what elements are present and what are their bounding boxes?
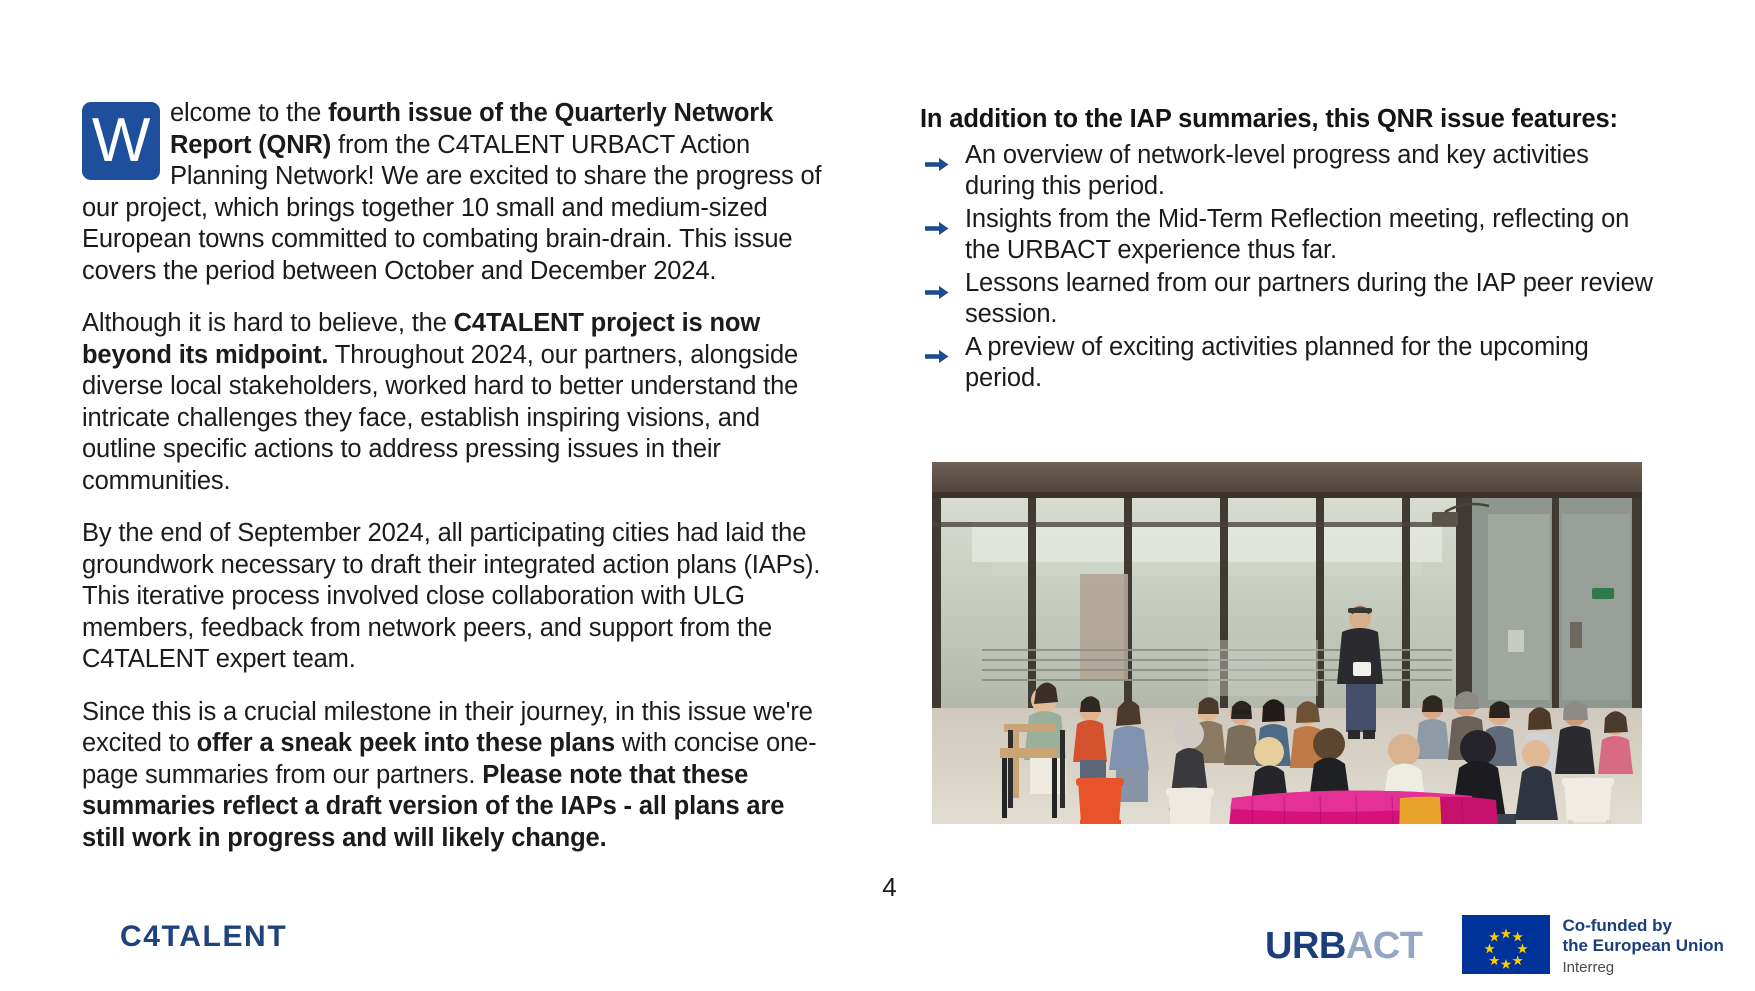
features-list: An overview of network-level progress an… <box>920 140 1665 395</box>
eu-funding-line-3: Interreg <box>1562 959 1724 977</box>
document-page: Welcome to the fourth issue of the Quart… <box>0 0 1755 991</box>
list-item: An overview of network-level progress an… <box>920 140 1665 203</box>
page-number-value: 4 <box>882 872 896 902</box>
arrow-right-icon <box>925 277 949 292</box>
list-item-label: An overview of network-level progress an… <box>965 141 1589 201</box>
list-item-label: Insights from the Mid-Term Reflection me… <box>965 205 1629 265</box>
urbact-logo-urb: URB <box>1265 925 1346 967</box>
arrow-right-icon <box>925 213 949 228</box>
urbact-logo: URBACT <box>1265 927 1422 965</box>
page-number: 4 <box>0 872 1755 903</box>
list-item: Lessons learned from our partners during… <box>920 268 1665 331</box>
eu-funding-text: Co-funded by the European Union Interreg <box>1562 915 1724 977</box>
eu-funding-line-1: Co-funded by <box>1562 916 1724 936</box>
eu-funding-logo: Co-funded by the European Union Interreg <box>1462 915 1724 977</box>
c4talent-logo-text: C4TALENT <box>120 920 287 953</box>
sneak-peek-paragraph: Since this is a crucial milestone in the… <box>82 697 822 855</box>
eu-flag-icon <box>1462 915 1550 974</box>
workshop-photo <box>932 462 1642 824</box>
arrow-right-icon <box>925 341 949 356</box>
eu-funding-line-2: the European Union <box>1562 936 1724 956</box>
sneak-bold-1: offer a sneak peek into these plans <box>197 729 615 757</box>
urbact-logo-act: ACT <box>1346 925 1423 967</box>
groundwork-text: By the end of September 2024, all partic… <box>82 519 820 673</box>
list-item: A preview of exciting activities planned… <box>920 332 1665 395</box>
list-item-label: A preview of exciting activities planned… <box>965 333 1589 393</box>
midpoint-paragraph: Although it is hard to believe, the C4TA… <box>82 308 822 497</box>
c4talent-logo: C4TALENT <box>120 920 287 954</box>
arrow-right-icon <box>925 149 949 164</box>
groundwork-paragraph: By the end of September 2024, all partic… <box>82 518 822 676</box>
footer-logos: URBACT <box>1265 915 1724 977</box>
list-item-label: Lessons learned from our partners during… <box>965 269 1653 329</box>
features-heading: In addition to the IAP summaries, this Q… <box>920 104 1665 136</box>
intro-paragraph: Welcome to the fourth issue of the Quart… <box>82 98 822 287</box>
list-item: Insights from the Mid-Term Reflection me… <box>920 204 1665 267</box>
left-text-column: Welcome to the fourth issue of the Quart… <box>82 98 822 875</box>
dropcap-letter: W <box>82 102 160 180</box>
midpoint-text-1: Although it is hard to believe, the <box>82 309 454 337</box>
intro-text-1: elcome to the <box>170 99 328 127</box>
right-content-column: In addition to the IAP summaries, this Q… <box>920 104 1665 396</box>
